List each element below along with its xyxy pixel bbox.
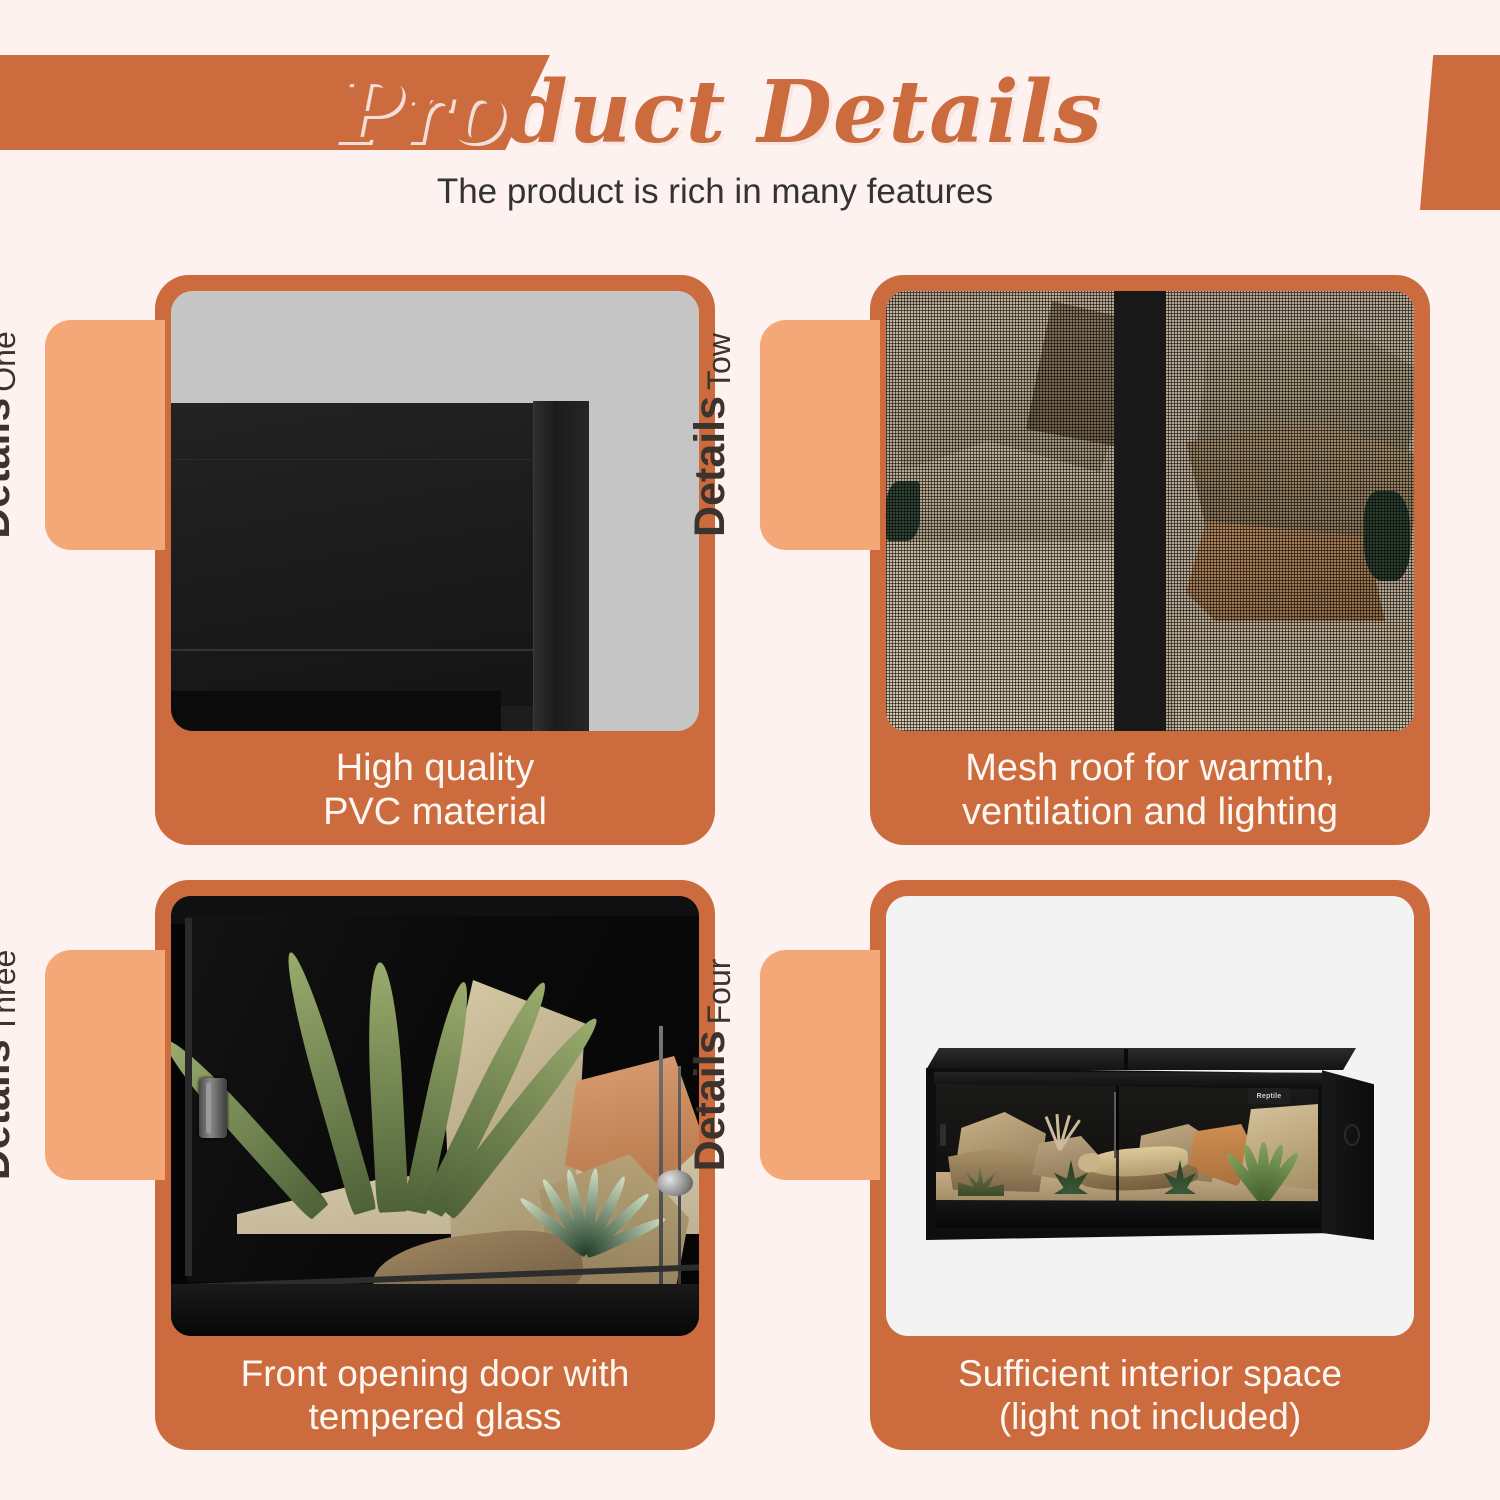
card-frame: Reptile Sufficient interior space (light… <box>870 880 1430 1450</box>
tag-label-sub: One <box>0 331 20 391</box>
card-frame: High quality PVC material <box>155 275 715 845</box>
door-left-frame <box>185 918 192 1276</box>
brand-badge-label: Reptile <box>1257 1093 1282 1100</box>
caption-line-1: High quality <box>323 747 547 791</box>
caption-line-2: ventilation and lighting <box>962 791 1338 835</box>
aloe-leaf <box>364 962 409 1213</box>
side-vent-icon <box>1344 1124 1360 1146</box>
detail-tag-four[interactable]: Details Four <box>760 950 880 1180</box>
pvc-seam-bottom <box>171 649 533 651</box>
tag-label-sub: Four <box>703 959 735 1025</box>
pvc-base <box>171 691 501 731</box>
terrarium-product: Reptile <box>926 1048 1356 1248</box>
tempered-glass-pane <box>187 916 699 1282</box>
tag-label-main: Details <box>0 1039 17 1180</box>
detail-photo-pvc <box>171 291 699 731</box>
tag-label-main: Details <box>689 396 732 537</box>
pvc-seam-top <box>171 459 533 460</box>
detail-card-two[interactable]: Mesh roof for warmth, ventilation and li… <box>870 275 1430 845</box>
caption-line-2: (light not included) <box>958 1396 1342 1439</box>
tag-inner: Details Three <box>0 950 55 1180</box>
tag-label-main: Details <box>0 398 17 539</box>
pvc-edge-post <box>533 401 589 731</box>
page-header: Product Details The product is rich in m… <box>0 0 1500 250</box>
card-frame: Front opening door with tempered glass <box>155 880 715 1450</box>
tag-inner: Details One <box>0 320 55 550</box>
page-title: Product Details <box>0 62 1500 163</box>
card-caption: Sufficient interior space (light not inc… <box>870 1342 1430 1450</box>
detail-card-three[interactable]: Front opening door with tempered glass <box>155 880 715 1450</box>
detail-photo-mesh-roof <box>886 291 1414 731</box>
caption-line-1: Mesh roof for warmth, <box>962 747 1338 791</box>
tank-side-panel <box>1322 1065 1374 1240</box>
mesh-center-bar <box>1114 291 1166 731</box>
tag-label-sub: Three <box>0 950 20 1034</box>
card-caption: Mesh roof for warmth, ventilation and li… <box>870 737 1430 845</box>
tank-top-lip <box>934 1072 1322 1086</box>
pvc-base-step <box>501 706 533 731</box>
caption-line-1: Sufficient interior space <box>958 1353 1342 1396</box>
succulent-plant <box>539 1148 635 1258</box>
tank-top-seam <box>1124 1049 1128 1070</box>
glass-door-seam <box>1116 1084 1119 1206</box>
detail-card-one[interactable]: High quality PVC material <box>155 275 715 845</box>
card-caption: High quality PVC material <box>155 737 715 845</box>
tag-inner: Details Tow <box>650 320 770 550</box>
brand-badge: Reptile <box>1248 1088 1290 1104</box>
caption-line-2: tempered glass <box>241 1396 630 1439</box>
detail-card-four[interactable]: Reptile Sufficient interior space (light… <box>870 880 1430 1450</box>
detail-tag-two[interactable]: Details Tow <box>760 320 880 550</box>
tag-inner: Details Four <box>650 950 770 1180</box>
aloe-plant <box>1222 1130 1302 1200</box>
tag-label-sub: Tow <box>703 333 735 390</box>
door-handle[interactable] <box>199 1078 227 1138</box>
detail-tag-one[interactable]: Details One <box>45 320 165 550</box>
aloe-leaf <box>171 1032 330 1220</box>
tank-base-band <box>936 1200 1320 1228</box>
tag-label-main: Details <box>689 1030 732 1171</box>
dry-branch <box>1042 1110 1078 1150</box>
tank-mesh-top <box>926 1048 1356 1070</box>
door-latch <box>940 1124 946 1146</box>
detail-photo-front-door <box>171 896 699 1336</box>
card-caption: Front opening door with tempered glass <box>155 1342 715 1450</box>
caption-line-2: PVC material <box>323 791 547 835</box>
detail-tag-three[interactable]: Details Three <box>45 950 165 1180</box>
pvc-panel <box>171 403 533 731</box>
page-subtitle: The product is rich in many features <box>0 172 1500 212</box>
detail-photo-full-tank: Reptile <box>886 896 1414 1336</box>
caption-line-1: Front opening door with <box>241 1353 630 1396</box>
door-bottom-rail <box>171 1284 699 1336</box>
card-frame: Mesh roof for warmth, ventilation and li… <box>870 275 1430 845</box>
